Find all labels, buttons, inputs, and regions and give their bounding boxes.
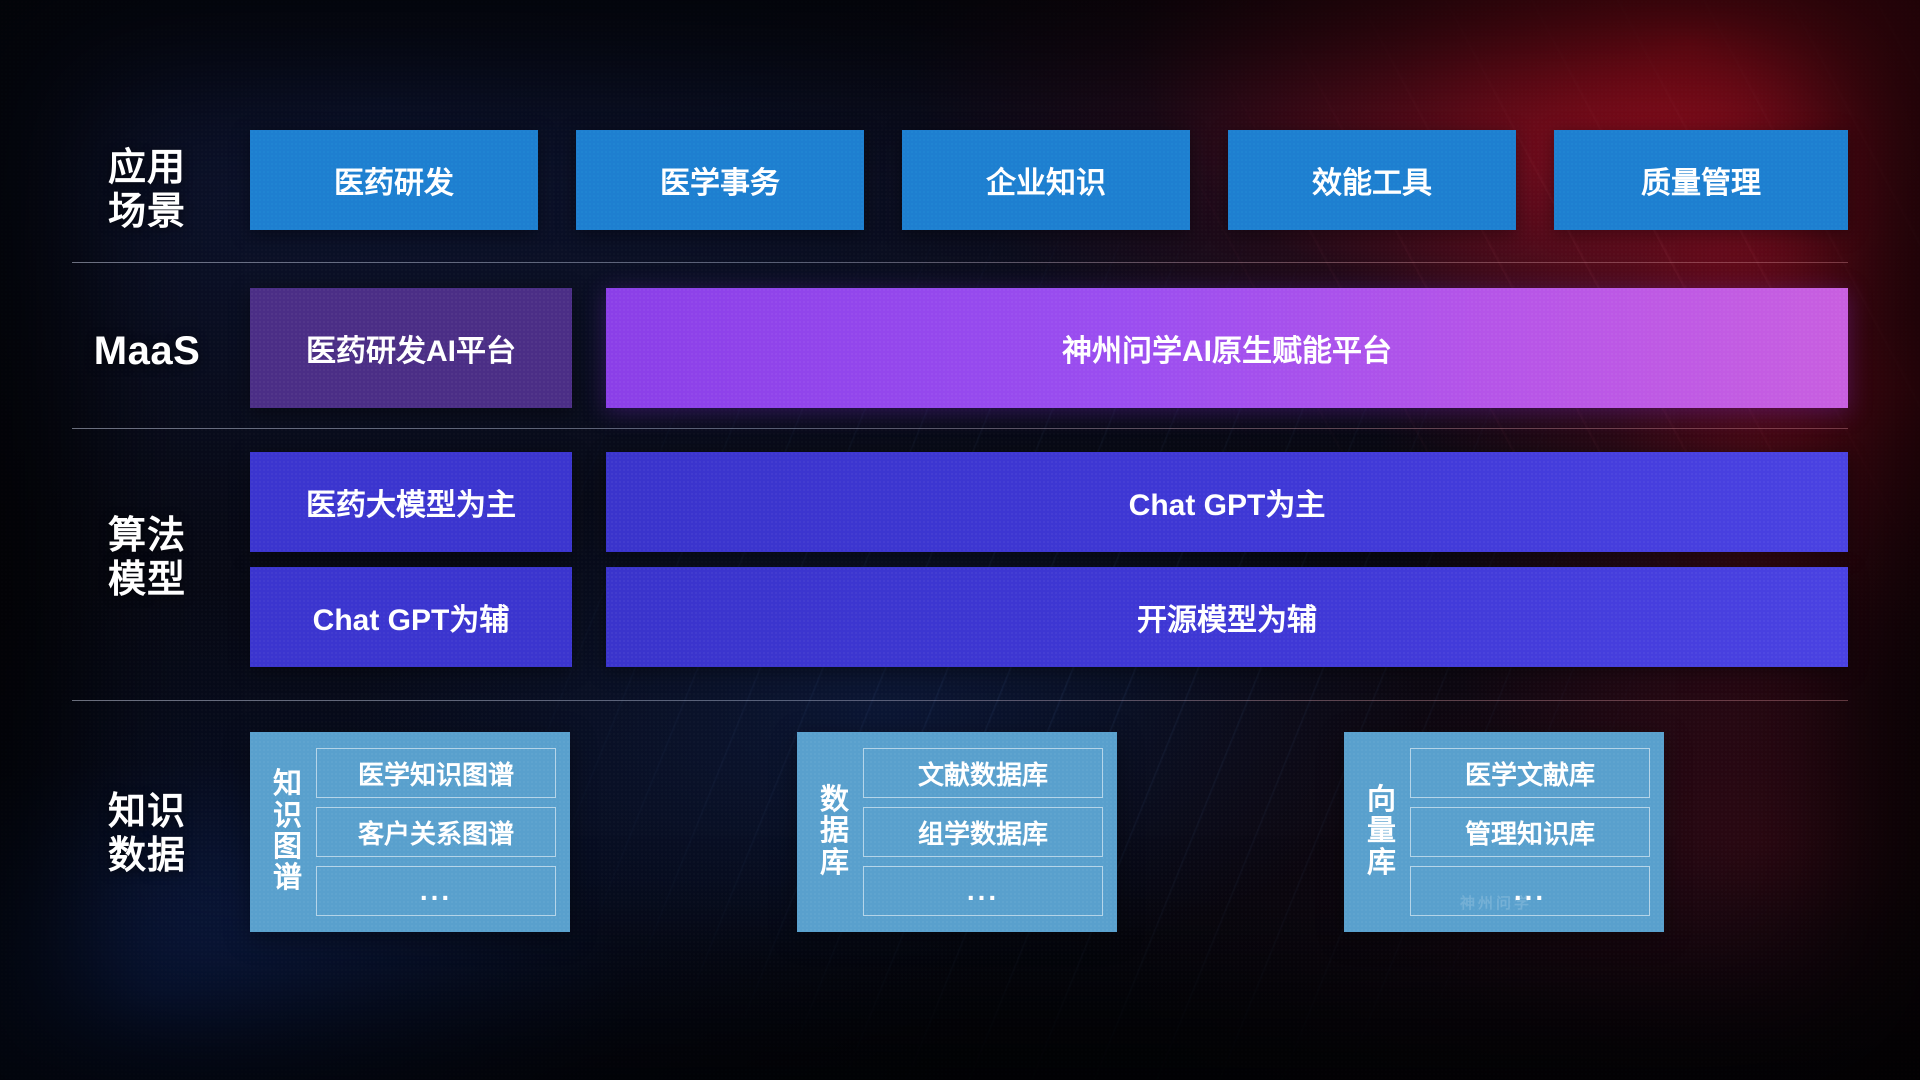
app-card-medicine-rd[interactable]: 医药研发 (250, 130, 538, 230)
algo-card-medicine-large-model-primary[interactable]: 医药大模型为主 (250, 452, 572, 552)
row-label-line-1: 应用 (72, 146, 222, 190)
knowledge-item-more-2[interactable]: ... (863, 866, 1103, 916)
divider-2 (72, 428, 1848, 429)
knowledge-group-database[interactable]: 数据库 文献数据库 组学数据库 ... (797, 732, 1117, 932)
row-label-line-2: 模型 (72, 558, 222, 602)
row-label-maas: MaaS (72, 328, 222, 374)
knowledge-group-title: 知识图谱 (260, 769, 316, 894)
row-label-line-2: 场景 (72, 190, 222, 234)
app-card-efficiency-tools[interactable]: 效能工具 (1228, 130, 1516, 230)
divider-3 (72, 700, 1848, 701)
knowledge-group-items: 医学文献库 管理知识库 ... (1410, 742, 1650, 922)
architecture-diagram: 应用 场景 医药研发 医学事务 企业知识 效能工具 质量管理 MaaS 医药研发… (0, 0, 1920, 1080)
knowledge-item-omics-database[interactable]: 组学数据库 (863, 807, 1103, 857)
knowledge-item-customer-relation-graph[interactable]: 客户关系图谱 (316, 807, 556, 857)
algo-card-opensource-secondary[interactable]: 开源模型为辅 (606, 567, 1848, 667)
row-label-line-1: 知识 (72, 790, 222, 834)
maas-card-medicine-rd-ai-platform[interactable]: 医药研发AI平台 (250, 288, 572, 408)
app-card-enterprise-knowledge[interactable]: 企业知识 (902, 130, 1190, 230)
knowledge-item-more-1[interactable]: ... (316, 866, 556, 916)
row-label-knowledge-data: 知识 数据 (72, 790, 222, 878)
knowledge-group-items: 文献数据库 组学数据库 ... (863, 742, 1103, 922)
knowledge-item-literature-database[interactable]: 文献数据库 (863, 748, 1103, 798)
knowledge-item-medical-literature-store[interactable]: 医学文献库 (1410, 748, 1650, 798)
knowledge-item-medical-knowledge-graph[interactable]: 医学知识图谱 (316, 748, 556, 798)
slide-canvas: 应用 场景 医药研发 医学事务 企业知识 效能工具 质量管理 MaaS 医药研发… (0, 0, 1920, 1080)
knowledge-item-more-3[interactable]: ... (1410, 866, 1650, 916)
app-card-quality-management[interactable]: 质量管理 (1554, 130, 1848, 230)
knowledge-group-vector-store[interactable]: 向量库 医学文献库 管理知识库 ... (1344, 732, 1664, 932)
knowledge-group-title: 向量库 (1354, 785, 1410, 879)
app-card-medical-affairs[interactable]: 医学事务 (576, 130, 864, 230)
divider-1 (72, 262, 1848, 263)
row-label-algorithm-models: 算法 模型 (72, 514, 222, 602)
knowledge-group-title: 数据库 (807, 785, 863, 879)
algo-card-chatgpt-secondary[interactable]: Chat GPT为辅 (250, 567, 572, 667)
row-label-line-1: 算法 (72, 514, 222, 558)
knowledge-group-items: 医学知识图谱 客户关系图谱 ... (316, 742, 556, 922)
knowledge-group-knowledge-graph[interactable]: 知识图谱 医学知识图谱 客户关系图谱 ... (250, 732, 570, 932)
maas-card-shenzhou-wenxue-platform[interactable]: 神州问学AI原生赋能平台 (606, 288, 1848, 408)
row-label-line-2: 数据 (72, 834, 222, 878)
knowledge-item-management-knowledge-store[interactable]: 管理知识库 (1410, 807, 1650, 857)
algo-card-chatgpt-primary[interactable]: Chat GPT为主 (606, 452, 1848, 552)
row-label-application-scenarios: 应用 场景 (72, 146, 222, 234)
